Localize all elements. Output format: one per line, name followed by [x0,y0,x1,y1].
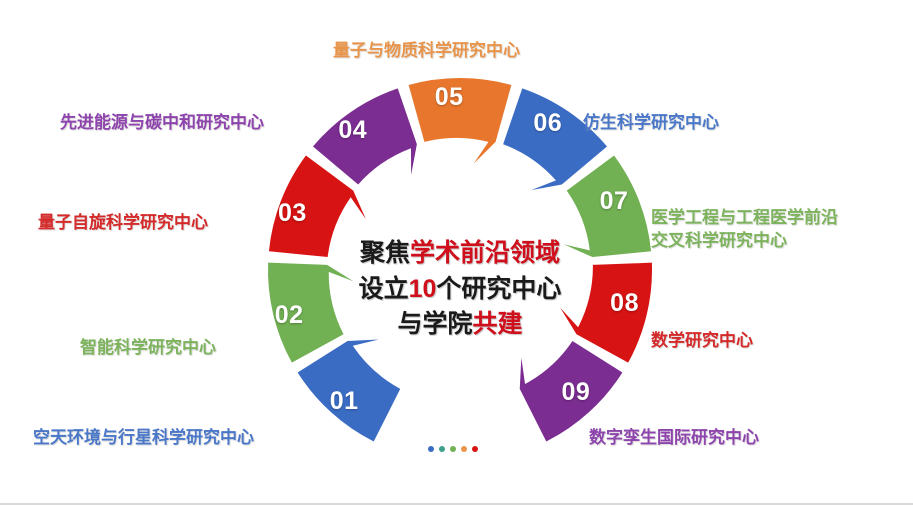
label-center-07[interactable]: 医学工程与工程医学前沿 交叉科学研究中心 [651,207,838,253]
label-center-05[interactable]: 量子与物质科学研究中心 [333,40,520,63]
decorative-dots [428,446,478,452]
center-line-3: 与学院共建 [300,307,620,343]
label-center-07-line1: 医学工程与工程医学前沿 [651,207,838,230]
label-center-03[interactable]: 量子自旋科学研究中心 [38,212,208,235]
label-center-04[interactable]: 先进能源与碳中和研究中心 [60,112,264,135]
dot-1 [428,446,434,452]
segment-shape-01 [298,340,401,442]
infographic-canvas: 01 02 03 04 05 06 07 08 09 聚焦学术前沿领域 设立10… [0,0,913,505]
label-center-08[interactable]: 数学研究中心 [651,330,753,353]
segment-shape-05 [409,78,512,164]
dot-2 [439,446,445,452]
center-line-3-highlight: 共建 [473,310,523,338]
label-center-07-line2: 交叉科学研究中心 [651,230,838,253]
ring-segment-05[interactable] [409,78,512,164]
segment-shape-04 [313,88,417,184]
left-edge-rule [0,0,2,505]
center-line-1-highlight: 学术前沿领域 [410,239,560,267]
center-message: 聚焦学术前沿领域 设立10个研究中心 与学院共建 [300,236,620,343]
dot-4 [461,446,467,452]
label-center-02[interactable]: 智能科学研究中心 [80,337,216,360]
ring-segment-01[interactable] [298,340,401,442]
label-center-01[interactable]: 空天环境与行星科学研究中心 [33,427,254,450]
center-line-1: 聚焦学术前沿领域 [300,236,620,272]
dot-5 [472,446,478,452]
label-center-09[interactable]: 数字孪生国际研究中心 [589,427,759,450]
center-line-3-plain: 与学院 [397,310,472,338]
center-line-2-tail: 个研究中心 [436,275,561,303]
center-line-2-plain: 设立 [359,275,409,303]
label-center-06[interactable]: 仿生科学研究中心 [583,112,719,135]
dot-3 [450,446,456,452]
center-line-1-plain: 聚焦 [360,239,410,267]
center-line-2-count: 10 [409,275,437,303]
center-line-2: 设立10个研究中心 [300,272,620,308]
ring-segment-04[interactable] [313,88,417,184]
